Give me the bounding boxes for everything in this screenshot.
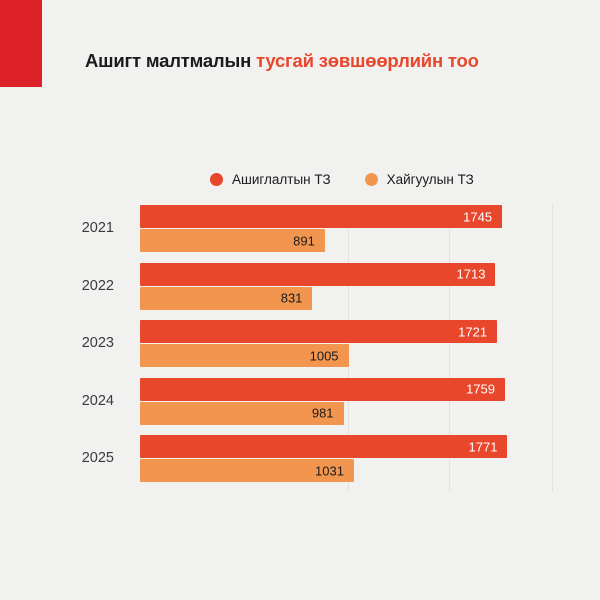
chart-legend: Ашиглалтын ТЗХайгуулын ТЗ — [210, 172, 474, 187]
bar-group: 1713831 — [140, 263, 570, 313]
chart-bar-groups: 1745891171383117211005175998117711031 — [140, 205, 570, 492]
legend-swatch-icon — [365, 173, 378, 186]
bar-row: 831 — [140, 287, 570, 310]
bar-row: 1005 — [140, 344, 570, 367]
y-axis-tick-label: 2023 — [82, 335, 114, 351]
bar-value-label: 1759 — [466, 382, 495, 397]
bar-value-label: 1745 — [463, 209, 492, 224]
bar-row: 1771 — [140, 435, 570, 458]
bar-value-label: 1771 — [469, 439, 498, 454]
bar[interactable]: 1759 — [140, 378, 505, 401]
bar[interactable]: 1745 — [140, 205, 502, 228]
legend-swatch-icon — [210, 173, 223, 186]
y-axis-labels: 20212022202320242025 — [0, 205, 128, 492]
y-axis-tick-label: 2021 — [82, 220, 114, 236]
bar-value-label: 1713 — [457, 267, 486, 282]
bar[interactable]: 891 — [140, 229, 325, 252]
bar-row: 1759 — [140, 378, 570, 401]
bar-value-label: 891 — [293, 233, 315, 248]
chart-plot-area: 1745891171383117211005175998117711031 — [140, 205, 570, 492]
bar-row: 891 — [140, 229, 570, 252]
page-title: Ашигт малтмалын тусгай зөвшөөрлийн тоо — [85, 50, 479, 72]
bar[interactable]: 1031 — [140, 459, 354, 482]
bar-value-label: 981 — [312, 406, 334, 421]
brand-corner-block — [0, 0, 42, 87]
bar-value-label: 1721 — [458, 324, 487, 339]
y-axis-tick-label: 2022 — [82, 278, 114, 294]
bar-row: 981 — [140, 402, 570, 425]
title-text-primary: Ашигт малтмалын — [85, 50, 256, 71]
bar-group: 1745891 — [140, 205, 570, 255]
legend-item-label: Хайгуулын ТЗ — [387, 172, 474, 187]
bar[interactable]: 1771 — [140, 435, 507, 458]
legend-item[interactable]: Хайгуулын ТЗ — [365, 172, 474, 187]
bar-row: 1713 — [140, 263, 570, 286]
bar[interactable]: 981 — [140, 402, 344, 425]
bar[interactable]: 1713 — [140, 263, 495, 286]
bar-group: 17711031 — [140, 435, 570, 485]
bar-group: 1759981 — [140, 378, 570, 428]
bar[interactable]: 1721 — [140, 320, 497, 343]
legend-item-label: Ашиглалтын ТЗ — [232, 172, 331, 187]
legend-item[interactable]: Ашиглалтын ТЗ — [210, 172, 331, 187]
bar-row: 1745 — [140, 205, 570, 228]
bar-row: 1031 — [140, 459, 570, 482]
bar-value-label: 1005 — [310, 348, 339, 363]
title-text-accent: тусгай зөвшөөрлийн тоо — [256, 50, 479, 71]
bar-row: 1721 — [140, 320, 570, 343]
y-axis-tick-label: 2025 — [82, 450, 114, 466]
bar-value-label: 831 — [281, 291, 303, 306]
bar-group: 17211005 — [140, 320, 570, 370]
bar[interactable]: 1005 — [140, 344, 349, 367]
bar-value-label: 1031 — [315, 463, 344, 478]
y-axis-tick-label: 2024 — [82, 393, 114, 409]
bar[interactable]: 831 — [140, 287, 312, 310]
